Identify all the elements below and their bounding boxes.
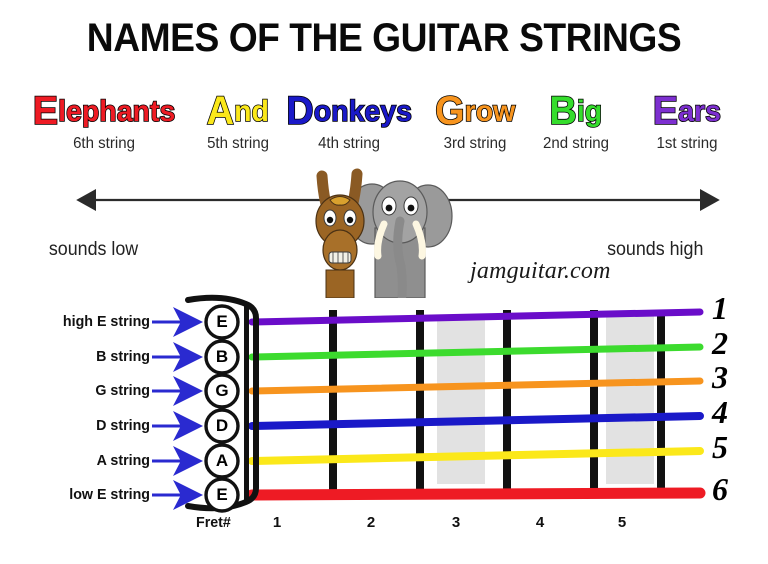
- fret-wire: [590, 310, 598, 496]
- string-number-6: 6: [712, 471, 746, 508]
- nut: [244, 306, 249, 502]
- mnemonic-word-ears: Ears: [653, 94, 721, 129]
- string-ordinal-6th: 6th string: [25, 135, 183, 153]
- fret-wire: [416, 310, 424, 496]
- brand-watermark: jamguitar.com: [470, 258, 611, 285]
- string-ordinal-1st: 1st string: [633, 135, 740, 153]
- tuning-peg-letter-6: E: [205, 485, 239, 505]
- mnemonic-item-3rd: Grow 3rd string: [414, 94, 536, 153]
- fret-inlay-marker: [606, 316, 654, 484]
- label-pointer-arrows: [152, 322, 200, 495]
- mnemonic-word-big: Big: [550, 94, 603, 129]
- mnemonic-word-elephants: Elephants: [33, 94, 176, 129]
- fret-wire: [657, 310, 665, 496]
- string-number-3: 3: [712, 359, 746, 396]
- mnemonic-item-2nd: Big 2nd string: [520, 94, 632, 153]
- sounds-low-label: sounds low: [49, 239, 138, 261]
- tuning-peg-letter-4: D: [205, 416, 239, 436]
- mnemonic-word-grow: Grow: [435, 94, 515, 129]
- fret-wire: [329, 310, 337, 496]
- string-label-1: high E string: [21, 313, 150, 330]
- tuning-peg-letter-1: E: [205, 312, 239, 332]
- fret-number-3: 3: [441, 514, 471, 531]
- string-label-4: D string: [21, 417, 150, 434]
- mnemonic-word-and: And: [207, 94, 269, 129]
- string-number-1: 1: [712, 290, 746, 327]
- string-label-3: G string: [21, 382, 150, 399]
- string-label-6: low E string: [21, 486, 150, 503]
- string-label-2: B string: [21, 348, 150, 365]
- fretboard-diagram: high E stringB stringG stringD stringA s…: [0, 290, 768, 564]
- mnemonic-item-6th: Elephants 6th string: [20, 94, 188, 153]
- string-number-2: 2: [712, 325, 746, 362]
- page-title: NAMES OF THE GUITAR STRINGS: [27, 16, 741, 61]
- mnemonic-item-4th: Donkeys 4th string: [276, 94, 422, 153]
- tuning-peg-letter-3: G: [205, 381, 239, 401]
- mnemonic-word-donkeys: Donkeys: [286, 94, 412, 129]
- fret-number-5: 5: [607, 514, 637, 531]
- string-number-5: 5: [712, 429, 746, 466]
- fret-wire: [503, 310, 511, 496]
- tuning-peg-letter-5: A: [205, 451, 239, 471]
- tuning-pegs: [206, 306, 238, 511]
- string-ordinal-4th: 4th string: [280, 135, 417, 153]
- fret-number-1: 1: [262, 514, 292, 531]
- mnemonic-item-1st: Ears 1st string: [630, 94, 744, 153]
- string-ordinal-2nd: 2nd string: [523, 135, 628, 153]
- fret-number-4: 4: [525, 514, 555, 531]
- donkey-icon: [316, 174, 364, 298]
- tuning-peg-letter-2: B: [205, 347, 239, 367]
- string-ordinal-3rd: 3rd string: [418, 135, 533, 153]
- animals-illustration: [300, 166, 460, 298]
- fret-number-label: Fret#: [196, 514, 231, 531]
- sounds-high-label: sounds high: [607, 239, 703, 261]
- string-label-5: A string: [21, 452, 150, 469]
- infographic-canvas: NAMES OF THE GUITAR STRINGS Elephants 6t…: [0, 0, 768, 564]
- mnemonic-row: Elephants 6th string And 5th string Donk…: [0, 94, 768, 166]
- elephant-icon: [348, 181, 452, 298]
- guitar-string-6: [252, 493, 700, 495]
- fret-number-2: 2: [356, 514, 386, 531]
- string-number-4: 4: [712, 394, 746, 431]
